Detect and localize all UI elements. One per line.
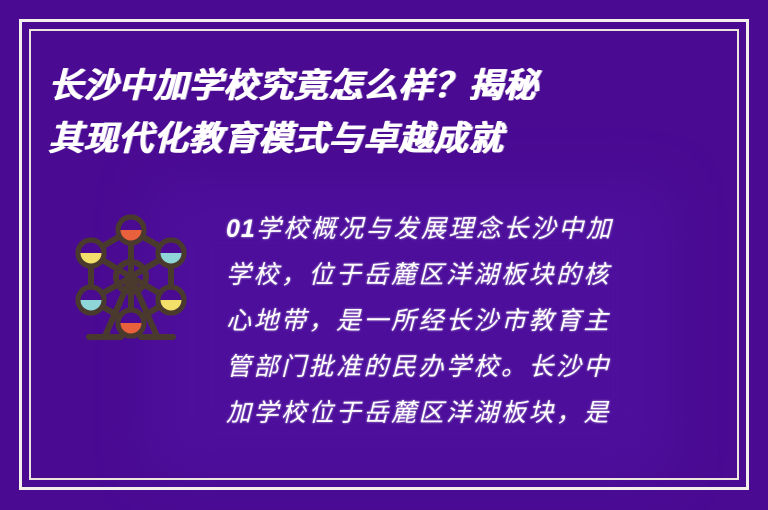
section-number: 01	[226, 215, 256, 243]
page-title-line-1: 长沙中加学校究竟怎么样？揭秘	[48, 60, 668, 113]
body-copy-line-1: 01学校概况与发展理念长沙中加	[226, 206, 656, 252]
body-copy-line-3: 心地带，是一所经长沙市教育主	[226, 298, 656, 344]
poster-canvas: 长沙中加学校究竟怎么样？揭秘 其现代化教育模式与卓越成就	[0, 0, 768, 510]
page-title: 长沙中加学校究竟怎么样？揭秘 其现代化教育模式与卓越成就	[48, 60, 668, 166]
body-copy-line-4: 管部门批准的民办学校。长沙中	[226, 344, 656, 390]
ferris-wheel-icon	[70, 212, 192, 344]
body-copy: 01学校概况与发展理念长沙中加 学校，位于岳麓区洋湖板块的核 心地带，是一所经长…	[226, 206, 656, 436]
body-copy-line-2: 学校，位于岳麓区洋湖板块的核	[226, 252, 656, 298]
page-title-line-2: 其现代化教育模式与卓越成就	[48, 113, 668, 166]
body-copy-line-5: 加学校位于岳麓区洋湖板块，是	[226, 390, 656, 436]
body-copy-line-1-text: 学校概况与发展理念长沙中加	[256, 215, 614, 243]
